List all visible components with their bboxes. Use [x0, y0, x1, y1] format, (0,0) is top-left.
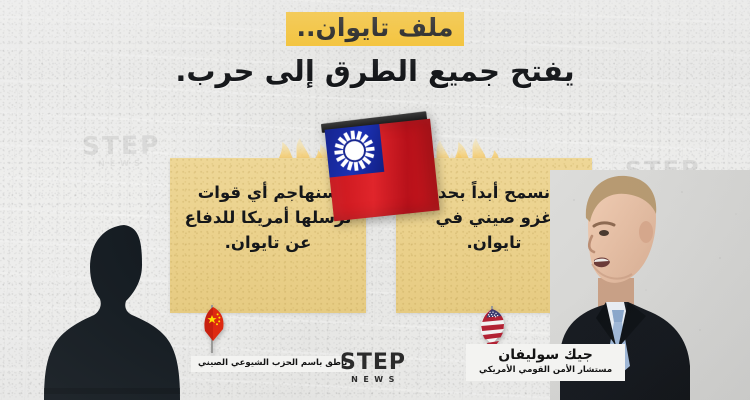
taiwan-flag-cloth	[325, 119, 440, 222]
headline-block: ملف تايوان.. يفتح جميع الطرق إلى حرب.	[0, 12, 750, 88]
logo-sub-text: NEWS	[345, 376, 406, 384]
logo-main-text: STEP	[340, 352, 406, 374]
taiwan-sun-icon	[325, 124, 385, 177]
speaker-name-usa: جيك سوليفان	[479, 348, 612, 363]
step-news-logo: STEP NEWS	[340, 352, 406, 384]
china-flag-icon	[193, 303, 233, 355]
quote-text-left: سنهاجم أي قوات ترسلها أمريكا للدفاع عن ت…	[184, 180, 352, 255]
taiwan-flag-icon	[324, 112, 440, 227]
headline-line-1: ملف تايوان..	[286, 12, 465, 46]
step-watermark-left: STEP NEWS	[82, 132, 161, 168]
chinese-spokesman-silhouette	[28, 225, 208, 400]
speaker-role-china: ناطق باسم الحزب الشيوعي الصيني	[198, 359, 347, 368]
infographic-poster: STEP NEWS STEP NEWS ملف تايوان.. يفتح جم…	[0, 0, 750, 400]
watermark-subtext: NEWS	[82, 159, 161, 168]
watermark-text: STEP	[82, 130, 161, 160]
taiwan-flag-canton	[325, 124, 385, 177]
headline-line-2: يفتح جميع الطرق إلى حرب.	[0, 55, 750, 88]
nameplate-usa: جيك سوليفان مستشار الأمن القومي الأمريكي	[466, 344, 625, 381]
speaker-role-usa: مستشار الأمن القومي الأمريكي	[479, 366, 612, 375]
nameplate-china: ناطق باسم الحزب الشيوعي الصيني	[191, 356, 354, 372]
